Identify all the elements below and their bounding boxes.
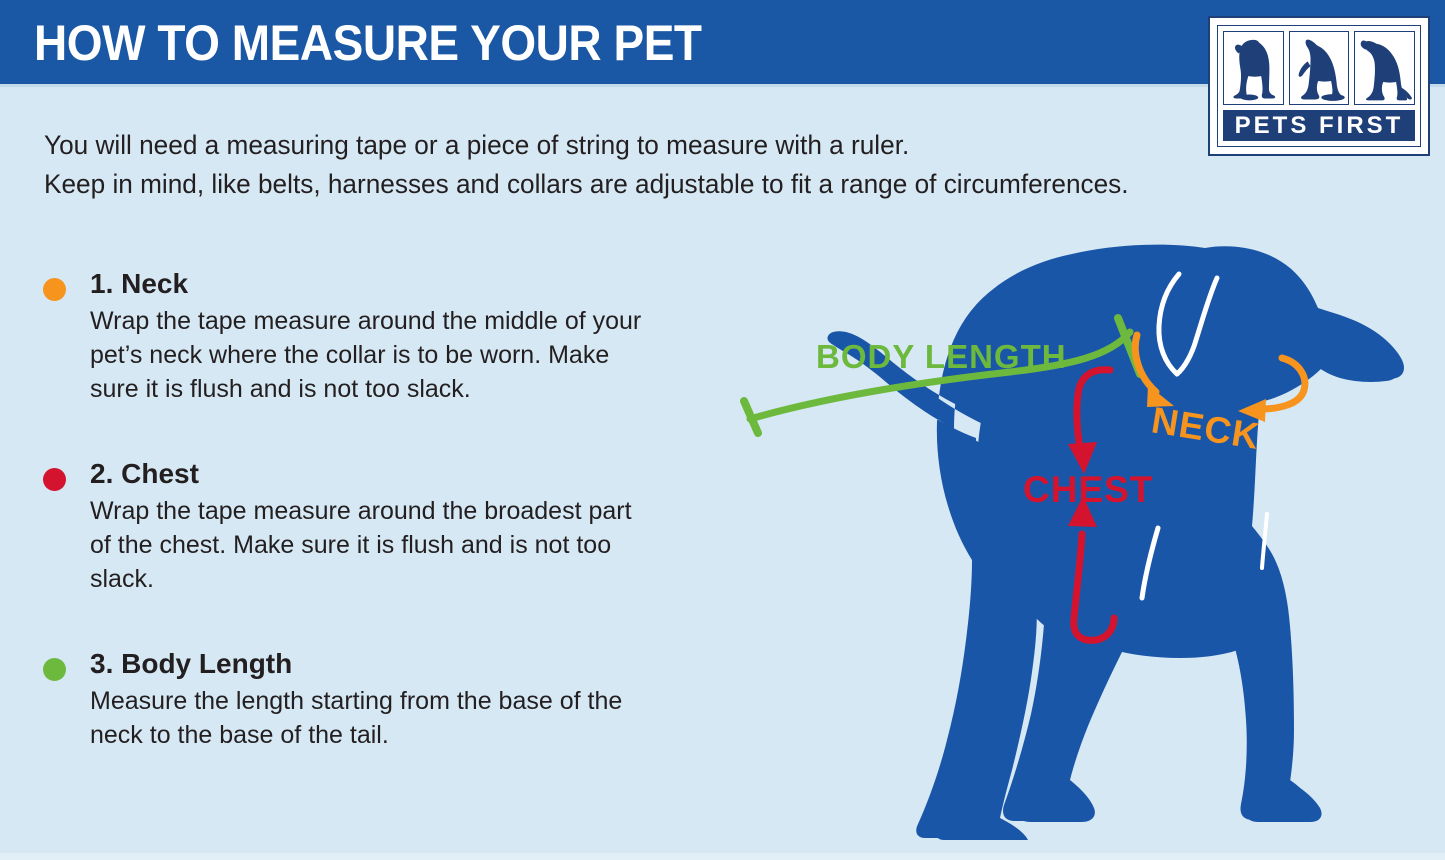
logo-dog-icon-row: [1223, 31, 1415, 105]
step-bullet-body-length: [43, 658, 66, 681]
step-bullet-chest: [43, 468, 66, 491]
step-body-chest: 2. Chest Wrap the tape measure around th…: [90, 454, 660, 596]
infographic-page: HOW TO MEASURE YOUR PET: [0, 0, 1445, 860]
logo-brand-name: PETS FIRST: [1223, 110, 1415, 141]
intro-line-2: Keep in mind, like belts, harnesses and …: [44, 165, 1169, 204]
bottom-strip: [0, 853, 1445, 860]
step-description-chest: Wrap the tape measure around the broades…: [90, 494, 650, 596]
step-bullet-neck: [43, 278, 66, 301]
intro-line-1: You will need a measuring tape or a piec…: [44, 126, 1169, 165]
step-item-chest: 2. Chest Wrap the tape measure around th…: [40, 454, 660, 596]
sitting-dog-silhouette-icon: [1223, 31, 1284, 105]
step-title-neck: 1. Neck: [90, 264, 660, 304]
step-item-body-length: 3. Body Length Measure the length starti…: [40, 644, 660, 752]
body-length-label: BODY LENGTH: [816, 338, 1067, 375]
step-description-body-length: Measure the length starting from the bas…: [90, 684, 650, 752]
standing-dog-silhouette-icon: [1354, 31, 1415, 105]
step-item-neck: 1. Neck Wrap the tape measure around the…: [40, 264, 660, 406]
brand-logo: PETS FIRST: [1208, 16, 1430, 156]
step-body-neck: 1. Neck Wrap the tape measure around the…: [90, 264, 660, 406]
chest-label: CHEST: [1023, 469, 1153, 510]
step-description-neck: Wrap the tape measure around the middle …: [90, 304, 650, 406]
step-title-chest: 2. Chest: [90, 454, 660, 494]
howling-dog-silhouette-icon: [1289, 31, 1350, 105]
step-body-body-length: 3. Body Length Measure the length starti…: [90, 644, 660, 752]
step-title-body-length: 3. Body Length: [90, 644, 660, 684]
measurement-steps-list: 1. Neck Wrap the tape measure around the…: [40, 264, 660, 784]
page-title: HOW TO MEASURE YOUR PET: [34, 16, 702, 70]
dog-body-shape: [829, 245, 1399, 838]
logo-inner-frame: PETS FIRST: [1217, 25, 1421, 147]
dog-measurement-diagram: BODY LENGTH NECK CHEST: [640, 236, 1440, 846]
intro-text: You will need a measuring tape or a piec…: [44, 126, 1169, 204]
